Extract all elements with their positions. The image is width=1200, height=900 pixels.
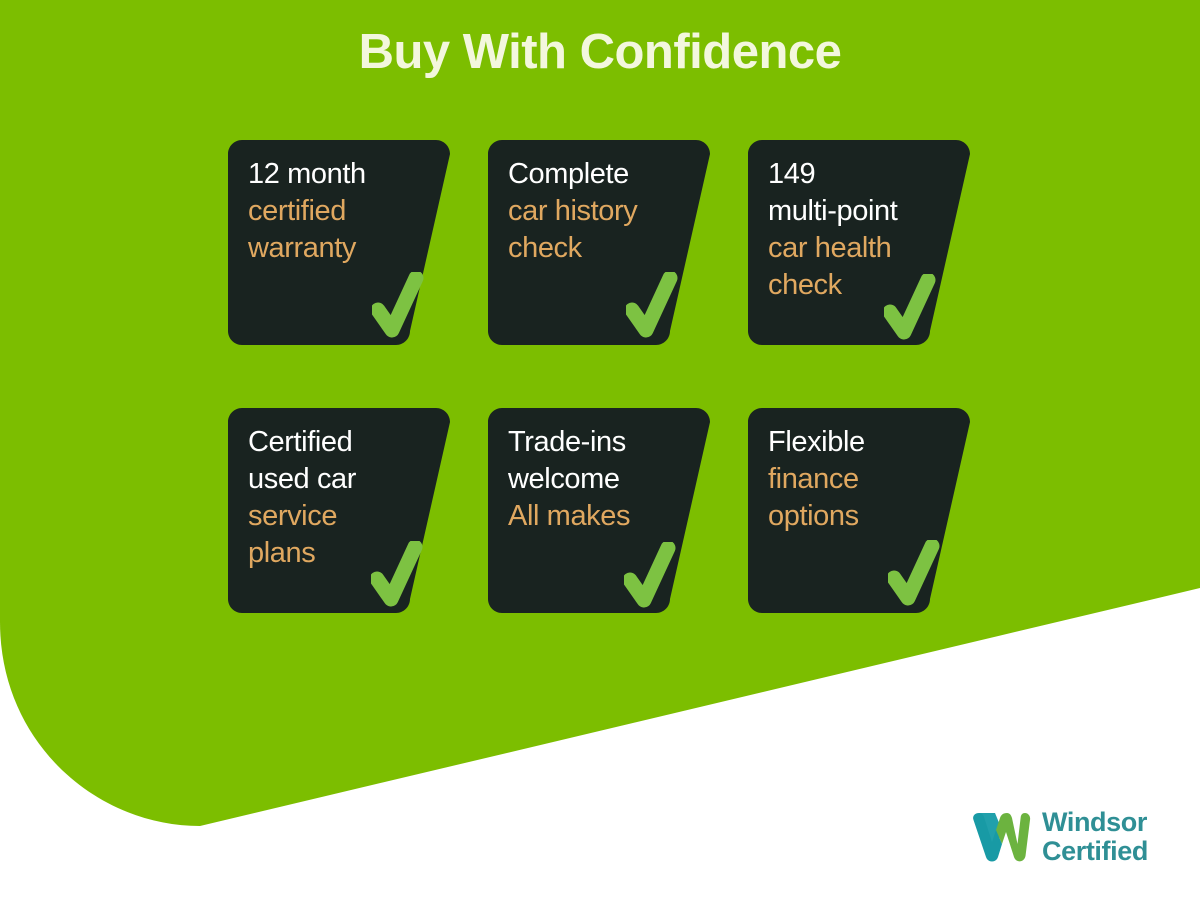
card-line: certified <box>248 193 448 230</box>
benefits-grid: 12 month certified warranty <box>228 140 988 613</box>
benefit-card-service-plans[interactable]: Certified used car service plans <box>228 408 450 613</box>
card-line: Certified <box>248 424 448 461</box>
checkmark-icon <box>371 541 425 607</box>
card-text-block: Trade-ins welcome All makes <box>508 424 708 535</box>
poster-canvas: Buy With Confidence 12 month certified w… <box>0 0 1200 900</box>
card-text-block: Complete car history check <box>508 156 708 267</box>
card-text-block: 12 month certified warranty <box>248 156 448 267</box>
benefit-card-car-history-check[interactable]: Complete car history check <box>488 140 710 345</box>
brand-wordmark: Windsor Certified <box>1042 808 1148 866</box>
card-line: welcome <box>508 461 708 498</box>
checkmark-icon <box>624 542 678 608</box>
card-line: check <box>508 230 708 267</box>
windsor-w-icon <box>972 808 1032 866</box>
checkmark-icon <box>884 274 938 340</box>
checkmark-icon <box>372 272 426 338</box>
brand-logo: Windsor Certified <box>972 808 1148 866</box>
card-line: 12 month <box>248 156 448 193</box>
card-text-block: 149 multi-point car health check <box>768 156 968 304</box>
benefits-row-1: 12 month certified warranty <box>228 140 988 345</box>
benefit-card-finance-options[interactable]: Flexible finance options <box>748 408 970 613</box>
checkmark-icon <box>888 540 942 606</box>
card-line: used car <box>248 461 448 498</box>
checkmark-icon <box>626 272 680 338</box>
card-line: finance <box>768 461 968 498</box>
card-line: car health <box>768 230 968 267</box>
card-line: check <box>768 267 968 304</box>
card-line: Flexible <box>768 424 968 461</box>
card-line: options <box>768 498 968 535</box>
card-line: All makes <box>508 498 708 535</box>
card-text-block: Flexible finance options <box>768 424 968 535</box>
card-line: 149 <box>768 156 968 193</box>
benefit-card-trade-ins[interactable]: Trade-ins welcome All makes <box>488 408 710 613</box>
card-line: Complete <box>508 156 708 193</box>
brand-wordmark-line1: Windsor <box>1042 808 1148 837</box>
card-line: Trade-ins <box>508 424 708 461</box>
brand-wordmark-line2: Certified <box>1042 837 1148 866</box>
benefit-card-certified-warranty[interactable]: 12 month certified warranty <box>228 140 450 345</box>
card-line: car history <box>508 193 708 230</box>
card-line: multi-point <box>768 193 968 230</box>
page-title: Buy With Confidence <box>0 24 1200 80</box>
benefits-row-2: Certified used car service plans <box>228 408 988 613</box>
card-line: service <box>248 498 448 535</box>
benefit-card-multi-point-health-check[interactable]: 149 multi-point car health check <box>748 140 970 345</box>
card-line: warranty <box>248 230 448 267</box>
